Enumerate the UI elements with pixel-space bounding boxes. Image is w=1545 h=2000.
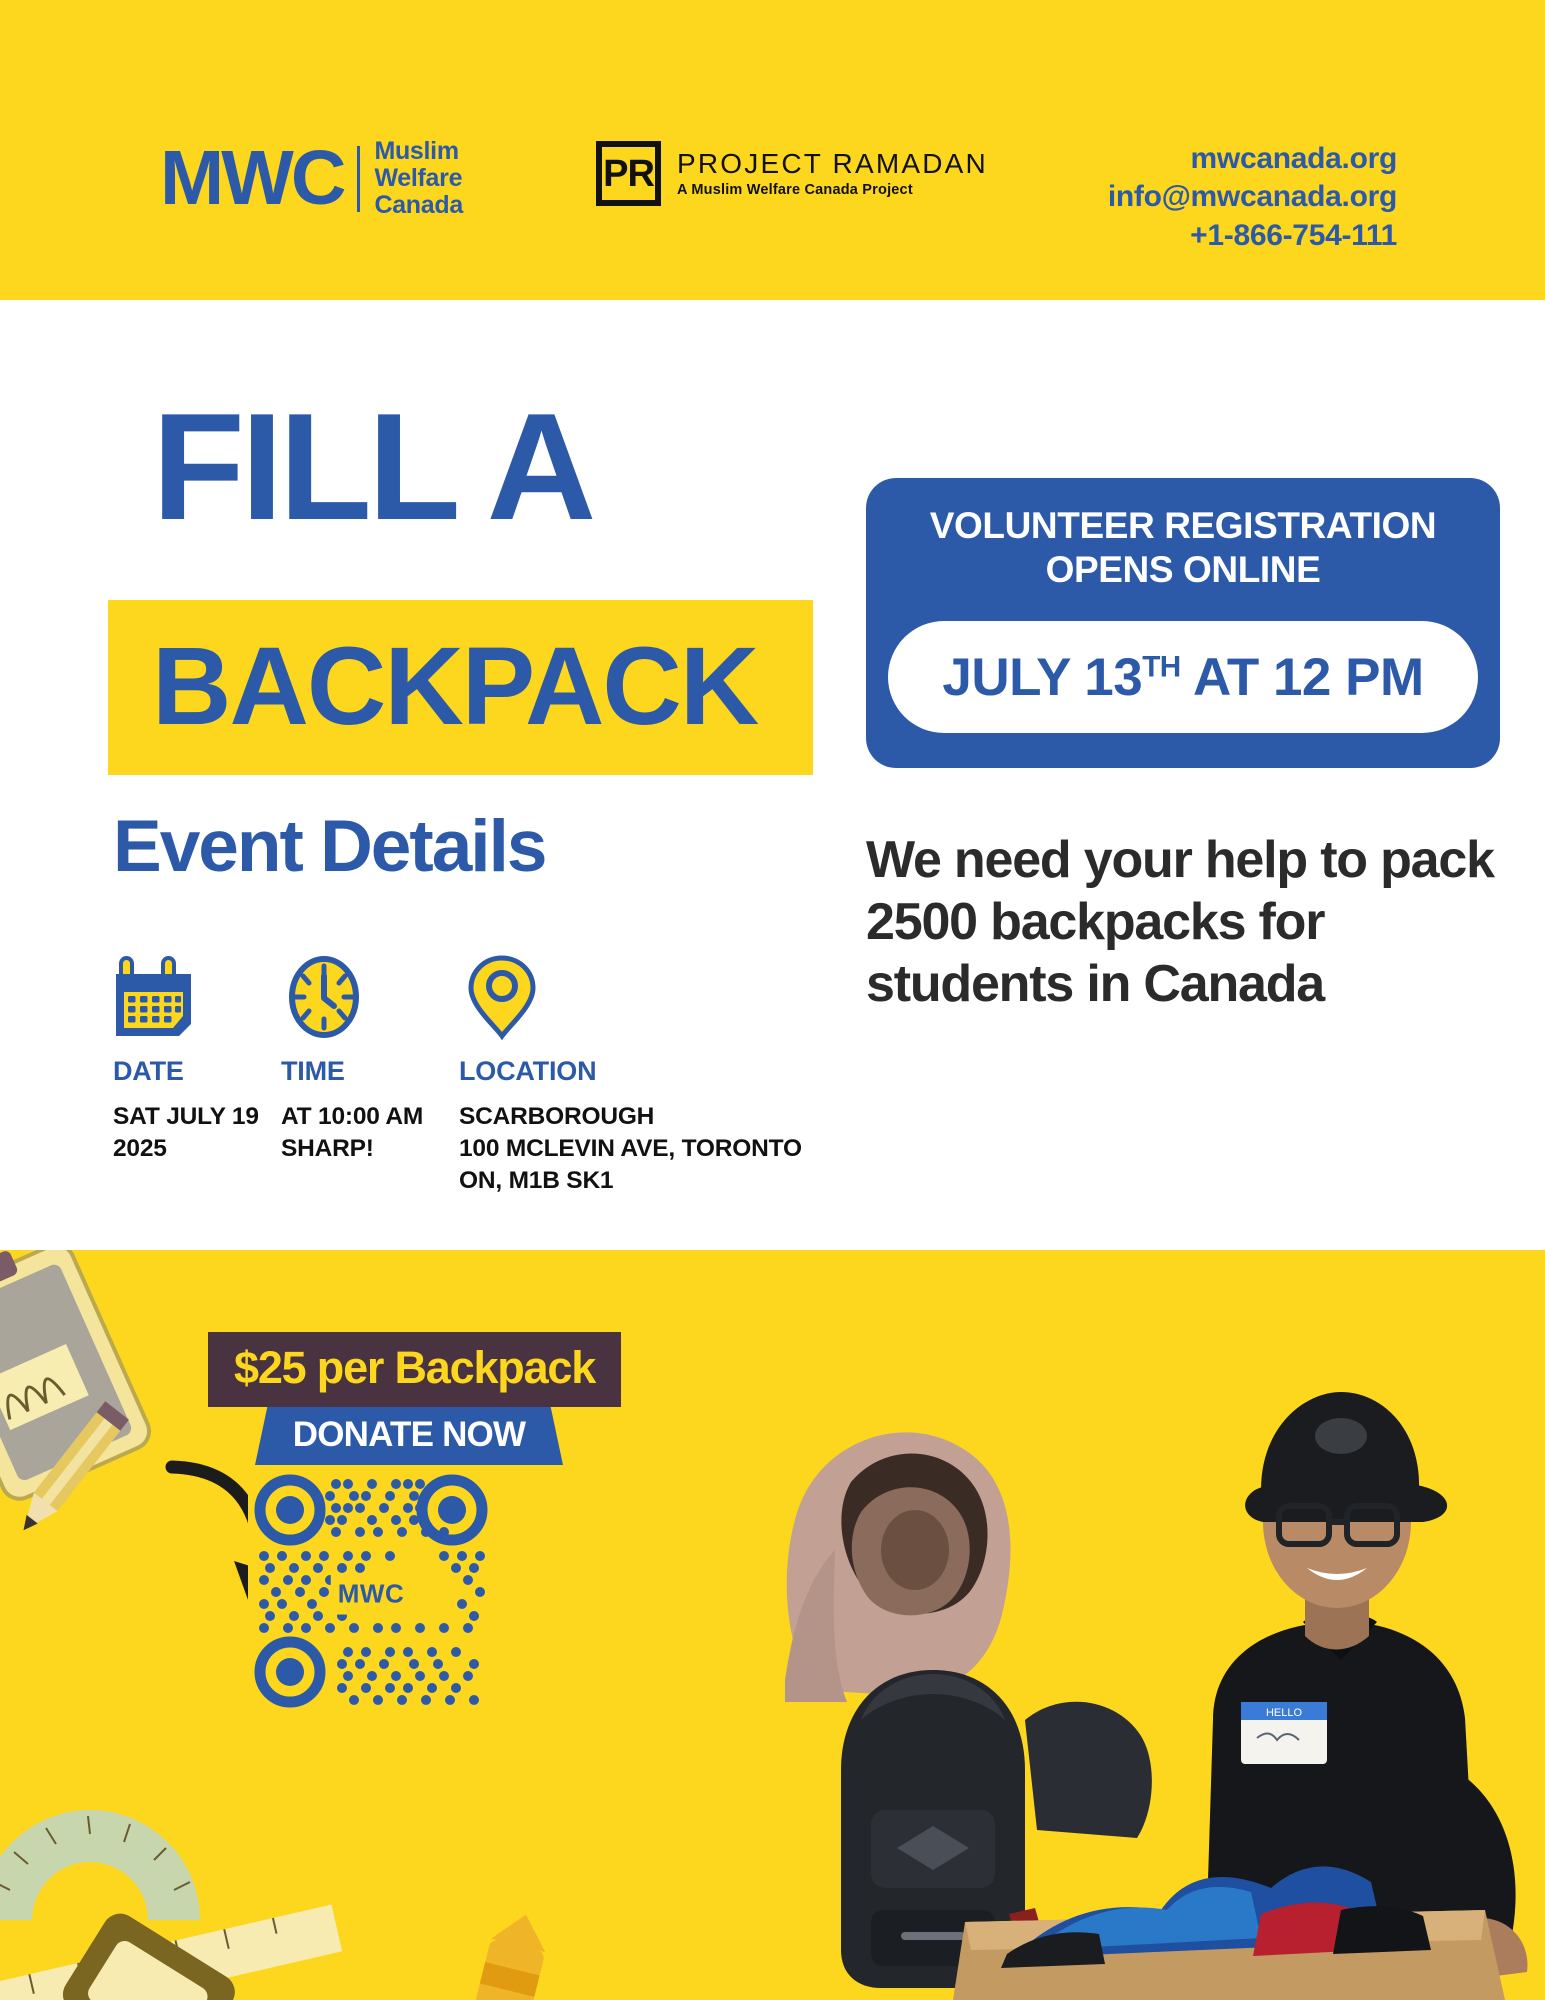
mwc-logo-words: Muslim Welfare Canada [374, 138, 463, 219]
pr-subtitle: A Muslim Welfare Canada Project [677, 182, 988, 198]
registration-date-text: JULY 13TH AT 12 PM [942, 647, 1423, 708]
headline-line-1: FILL A [152, 395, 592, 541]
volunteer-registration-card: VOLUNTEER REGISTRATION OPENS ONLINE JULY… [866, 478, 1500, 768]
pencil-illustration-icon [0, 1396, 146, 1561]
volunteers-photo: HELLO [665, 1250, 1545, 2000]
website-link[interactable]: mwcanada.org [1108, 140, 1397, 178]
mwc-word-canada: Canada [374, 192, 463, 219]
detail-column-date: DATE SAT JULY 19 2025 [113, 950, 281, 1197]
donate-now-label: DONATE NOW [255, 1417, 563, 1452]
help-message: We need your help to pack 2500 backpacks… [866, 830, 1526, 1016]
mwc-logo: MWC Muslim Welfare Canada [160, 138, 463, 219]
event-details-row: DATE SAT JULY 19 2025 [113, 950, 913, 1197]
footer-yellow-section: $25 per Backpack DONATE NOW [0, 1250, 1545, 2000]
detail-label-time: TIME [281, 1056, 459, 1087]
logo-divider [357, 146, 360, 212]
detail-value-location: SCARBOROUGH 100 MCLEVIN AVE, TORONTO ON,… [459, 1101, 889, 1197]
email-link[interactable]: info@mwcanada.org [1108, 178, 1397, 216]
calendar-icon [113, 950, 281, 1040]
donate-block: $25 per Backpack DONATE NOW [208, 1332, 628, 1465]
donate-now-button[interactable]: DONATE NOW [255, 1407, 563, 1465]
svg-text:HELLO: HELLO [1266, 1707, 1303, 1719]
phone-number[interactable]: +1-866-754-111 [1108, 217, 1397, 255]
clock-icon [281, 950, 459, 1040]
header-band: MWC Muslim Welfare Canada PR PROJECT RAM… [0, 0, 1545, 300]
date-suffix: AT 12 PM [1181, 648, 1424, 707]
detail-value-time: AT 10:00 AM SHARP! [281, 1101, 459, 1165]
price-label: $25 per Backpack [234, 1345, 595, 1390]
price-banner: $25 per Backpack [208, 1332, 621, 1407]
detail-column-time: TIME AT 10:00 AM SHARP! [281, 950, 459, 1197]
pr-monogram: PR [596, 141, 661, 206]
pr-title: PROJECT RAMADAN [677, 149, 988, 180]
detail-column-location: LOCATION SCARBOROUGH 100 MCLEVIN AVE, TO… [459, 950, 889, 1197]
mwc-word-welfare: Welfare [374, 165, 463, 192]
project-ramadan-logo: PR PROJECT RAMADAN A Muslim Welfare Cana… [596, 141, 988, 206]
protractor-ruler-illustration-icon [0, 1790, 390, 2000]
qr-center-label: MWC [331, 1573, 411, 1614]
headline-line-2: BACKPACK [152, 610, 757, 764]
detail-value-date: SAT JULY 19 2025 [113, 1101, 281, 1165]
mwc-word-muslim: Muslim [374, 138, 463, 165]
location-pin-icon [459, 950, 889, 1040]
detail-label-location: LOCATION [459, 1056, 889, 1087]
registration-date-pill: JULY 13TH AT 12 PM [888, 621, 1478, 733]
mwc-wordmark: MWC [160, 140, 343, 217]
contact-info: mwcanada.org info@mwcanada.org +1-866-75… [1108, 140, 1397, 255]
event-details-heading: Event Details [113, 805, 545, 888]
date-ordinal-suffix: TH [1142, 650, 1181, 683]
poster-root: MWC Muslim Welfare Canada PR PROJECT RAM… [0, 0, 1545, 2000]
donation-qr-code[interactable]: MWC [248, 1468, 494, 1719]
crayon-illustration-icon [420, 1897, 591, 2000]
volunteer-card-title-line-1: VOLUNTEER REGISTRATION [890, 504, 1476, 548]
detail-label-date: DATE [113, 1056, 281, 1087]
volunteer-card-title-line-2: OPENS ONLINE [890, 548, 1476, 592]
date-prefix: JULY 13 [942, 648, 1142, 707]
